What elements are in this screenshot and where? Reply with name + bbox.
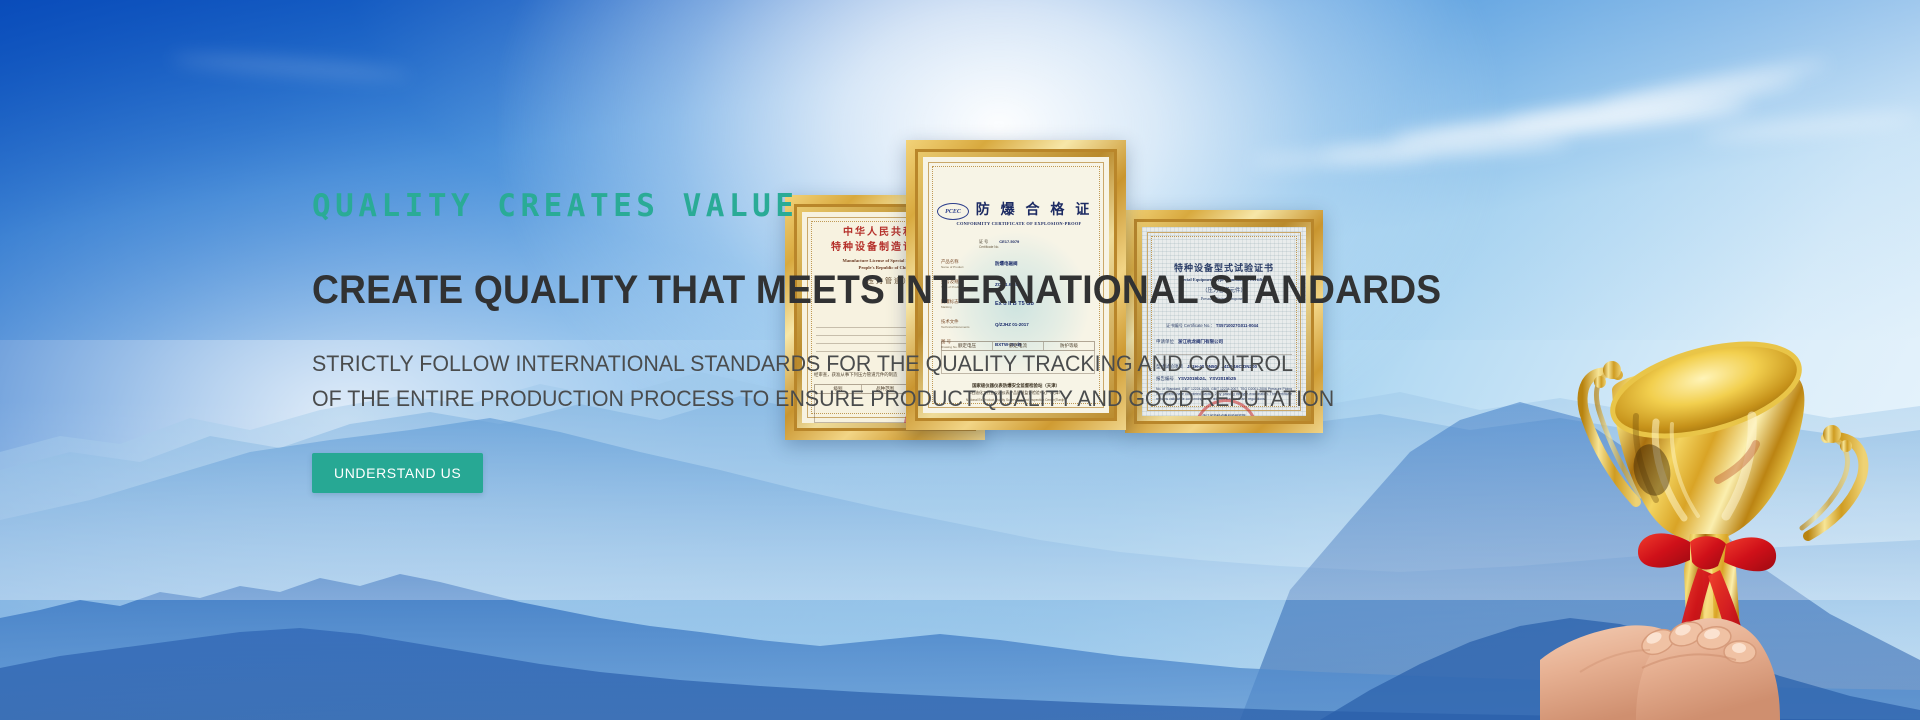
banner-body: STRICTLY FOLLOW INTERNATIONAL STANDARDS … — [312, 347, 1186, 417]
banner-content: QUALITY CREATES VALUE CREATE QUALITY THA… — [312, 188, 1232, 493]
trophy-handle-right — [1802, 425, 1863, 536]
banner-body-line-2: OF THE ENTIRE PRODUCTION PROCESS TO ENSU… — [312, 386, 1334, 411]
hero-banner: 中华人民共和国 特种设备制造许可证 Manufacture License of… — [0, 0, 1920, 720]
banner-headline: CREATE QUALITY THAT MEETS INTERNATIONAL … — [312, 268, 1168, 313]
understand-us-button[interactable]: UNDERSTAND US — [312, 453, 483, 493]
trophy-graphic — [1540, 320, 1920, 720]
holding-hands-icon — [1540, 618, 1780, 720]
banner-body-line-1: STRICTLY FOLLOW INTERNATIONAL STANDARDS … — [312, 351, 1293, 376]
banner-eyebrow: QUALITY CREATES VALUE — [312, 188, 1232, 224]
